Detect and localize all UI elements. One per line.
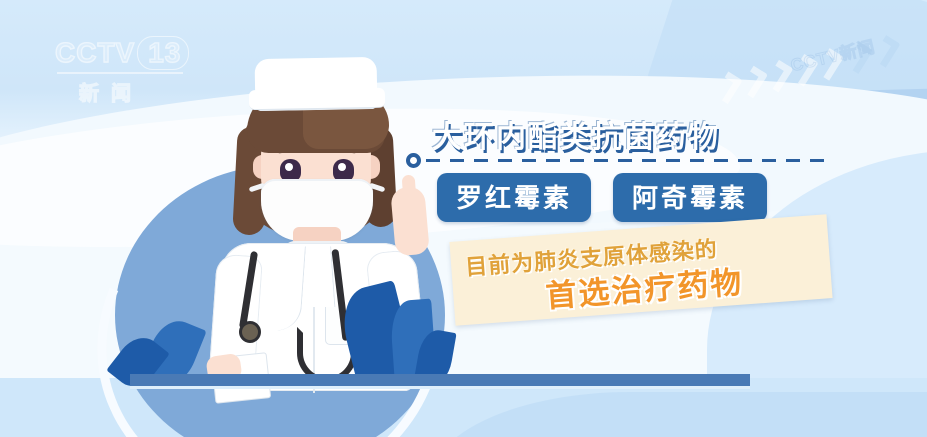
index-finger (402, 175, 418, 216)
nurse-cap-brim (249, 88, 385, 110)
dashed-divider (406, 153, 826, 169)
drug-tag-list: 罗红霉素 阿奇霉素 (437, 173, 767, 222)
drug-tag: 罗红霉素 (437, 173, 591, 222)
dashed-line (426, 159, 826, 162)
desk-bar-shadow (130, 386, 750, 389)
bullet-dot-marker (406, 153, 421, 168)
stethoscope-bell (239, 321, 261, 343)
eye-highlight-right (338, 163, 346, 171)
drug-tag: 阿奇霉素 (613, 173, 767, 222)
desk-bar (130, 374, 750, 386)
page-title: 大环内酯类抗菌药物 (432, 112, 720, 156)
broadcast-graphic-frame: CCTV13 新闻 CCTV新闻 大环内酯类抗菌药物 罗红霉素 阿奇霉素 目前为… (0, 0, 927, 437)
eye-highlight-left (285, 163, 293, 171)
